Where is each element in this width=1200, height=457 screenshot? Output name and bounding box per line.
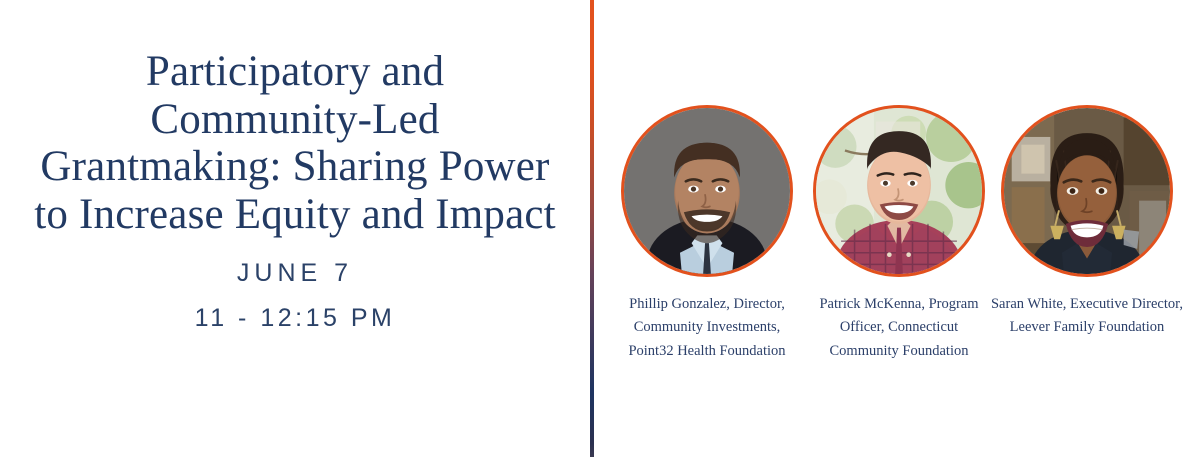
webinar-promo-banner: Participatory and Community-Led Grantmak…	[0, 0, 1200, 457]
speakers-panel: Phillip Gonzalez, Director, Community In…	[594, 0, 1200, 457]
event-schedule: JUNE 7 11 - 12:15 PM	[195, 255, 396, 338]
event-info-panel: Participatory and Community-Led Grantmak…	[0, 0, 590, 457]
speaker-caption: Phillip Gonzalez, Director, Community In…	[614, 293, 800, 363]
event-date: JUNE 7	[195, 255, 396, 293]
headshot-saran-white-image	[1004, 108, 1170, 274]
event-time: 11 - 12:15 PM	[195, 300, 396, 338]
avatar	[621, 105, 793, 277]
speaker-card: Patrick McKenna, Program Officer, Connec…	[804, 105, 994, 363]
speaker-card: Saran White, Executive Director, Leever …	[992, 105, 1182, 340]
speaker-card: Phillip Gonzalez, Director, Community In…	[612, 105, 802, 363]
headshot-patrick-mckenna-image	[816, 108, 982, 274]
avatar	[1001, 105, 1173, 277]
speaker-caption: Saran White, Executive Director, Leever …	[989, 293, 1185, 340]
speaker-caption: Patrick McKenna, Program Officer, Connec…	[806, 293, 992, 363]
headshot-phillip-gonzalez-image	[624, 108, 790, 274]
avatar	[813, 105, 985, 277]
page-title: Participatory and Community-Led Grantmak…	[30, 48, 560, 239]
